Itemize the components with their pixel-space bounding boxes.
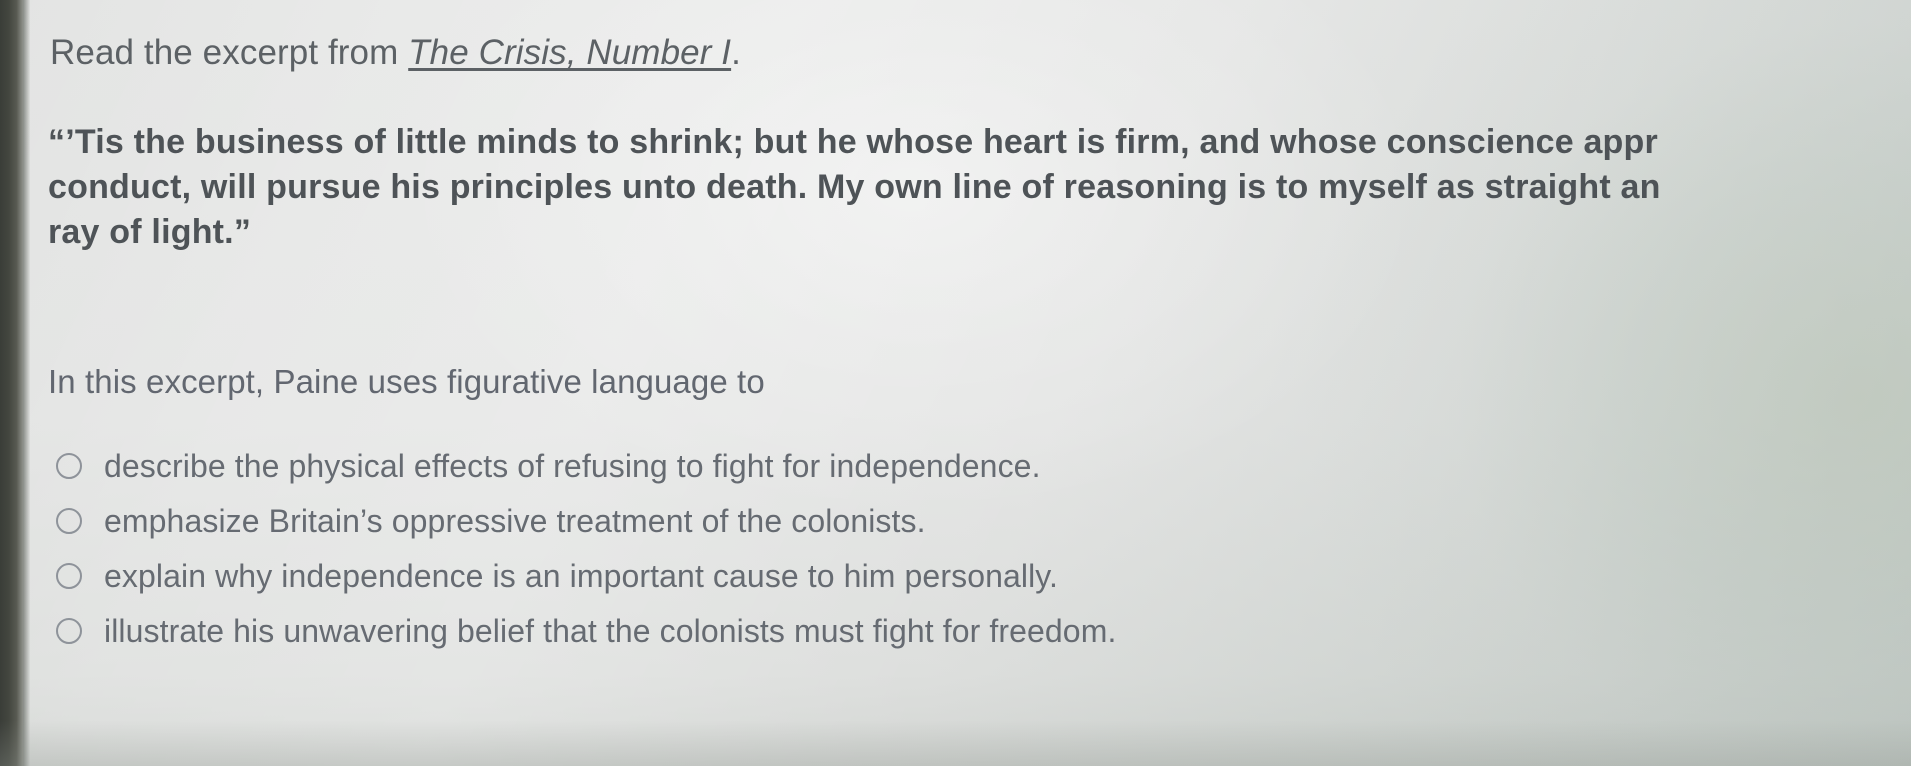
excerpt-line: “’Tis the business of little minds to sh…	[48, 120, 1911, 165]
answer-option-label: illustrate his unwavering belief that th…	[104, 609, 1116, 653]
excerpt-line: conduct, will pursue his principles unto…	[48, 165, 1911, 210]
answer-option-label: explain why independence is an important…	[104, 554, 1058, 598]
answer-option-c[interactable]: explain why independence is an important…	[56, 548, 1656, 603]
radio-button-icon[interactable]	[56, 508, 82, 534]
prompt-lead-text: Read the excerpt from	[50, 33, 408, 72]
excerpt-line: ray of light.”	[48, 210, 1911, 255]
answer-option-label: describe the physical effects of refusin…	[104, 444, 1041, 488]
answer-option-d[interactable]: illustrate his unwavering belief that th…	[56, 603, 1656, 658]
radio-button-icon[interactable]	[56, 618, 82, 644]
question-stem: In this excerpt, Paine uses figurative l…	[48, 360, 765, 404]
reading-prompt: Read the excerpt from The Crisis, Number…	[50, 30, 741, 76]
radio-button-icon[interactable]	[56, 453, 82, 479]
excerpt-passage: “’Tis the business of little minds to sh…	[48, 120, 1911, 255]
radio-button-icon[interactable]	[56, 563, 82, 589]
answer-option-label: emphasize Britain’s oppressive treatment…	[104, 499, 926, 543]
prompt-trailing-period: .	[731, 33, 741, 72]
answer-options: describe the physical effects of refusin…	[56, 438, 1656, 658]
work-title-link[interactable]: The Crisis, Number I	[408, 33, 731, 72]
quiz-screen: Read the excerpt from The Crisis, Number…	[0, 0, 1911, 766]
question-content: Read the excerpt from The Crisis, Number…	[0, 0, 1911, 766]
answer-option-b[interactable]: emphasize Britain’s oppressive treatment…	[56, 493, 1656, 548]
answer-option-a[interactable]: describe the physical effects of refusin…	[56, 438, 1656, 493]
